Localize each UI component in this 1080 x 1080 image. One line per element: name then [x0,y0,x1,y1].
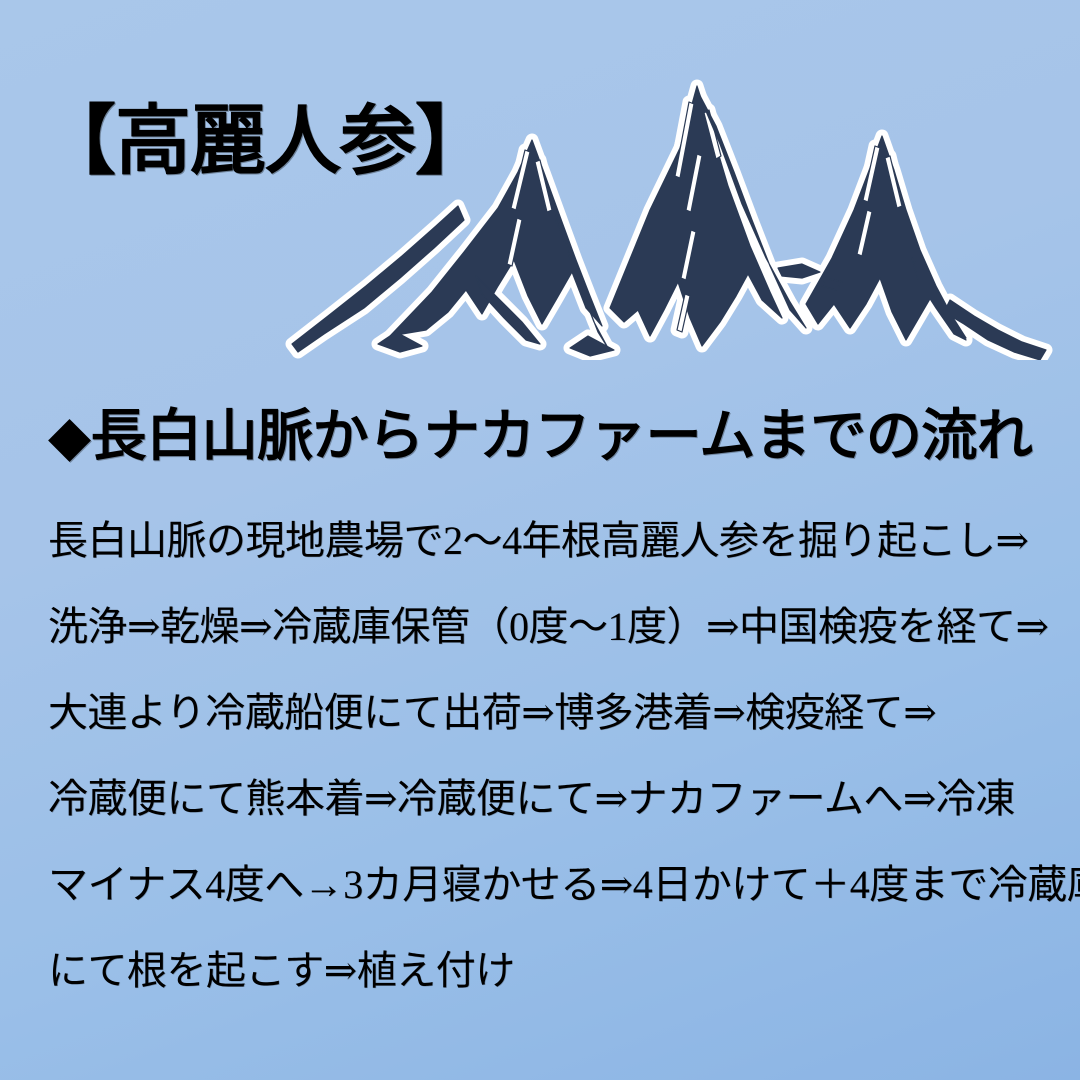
process-flow-list: 長白山脈の現地農場で2〜4年根高麗人参を掘り起こし⇒ 洗浄⇒乾燥⇒冷蔵庫保管（0… [48,498,1048,1014]
flow-line: 洗浄⇒乾燥⇒冷蔵庫保管（0度〜1度）⇒中国検疫を経て⇒ [48,584,1048,670]
section-heading: ◆長白山脈からナカファームまでの流れ [48,400,1038,474]
flow-line: 長白山脈の現地農場で2〜4年根高麗人参を掘り起こし⇒ [48,498,1048,584]
mountain-range-icon [250,60,1060,360]
flow-line: 大連より冷蔵船便にて出荷⇒博多港着⇒検疫経て⇒ [48,670,1048,756]
flow-line: にて根を起こす⇒植え付け [48,928,1048,1014]
flow-line: マイナス4度へ→3カ月寝かせる⇒4日かけて＋4度まで冷蔵庫 [48,842,1048,928]
section-heading-text: ◆長白山脈からナカファームまでの流れ [48,409,1032,465]
flow-line: 冷蔵便にて熊本着⇒冷蔵便にて⇒ナカファームへ⇒冷凍 [48,756,1048,842]
poster-canvas: 【高麗人参】 [0,0,1080,1080]
